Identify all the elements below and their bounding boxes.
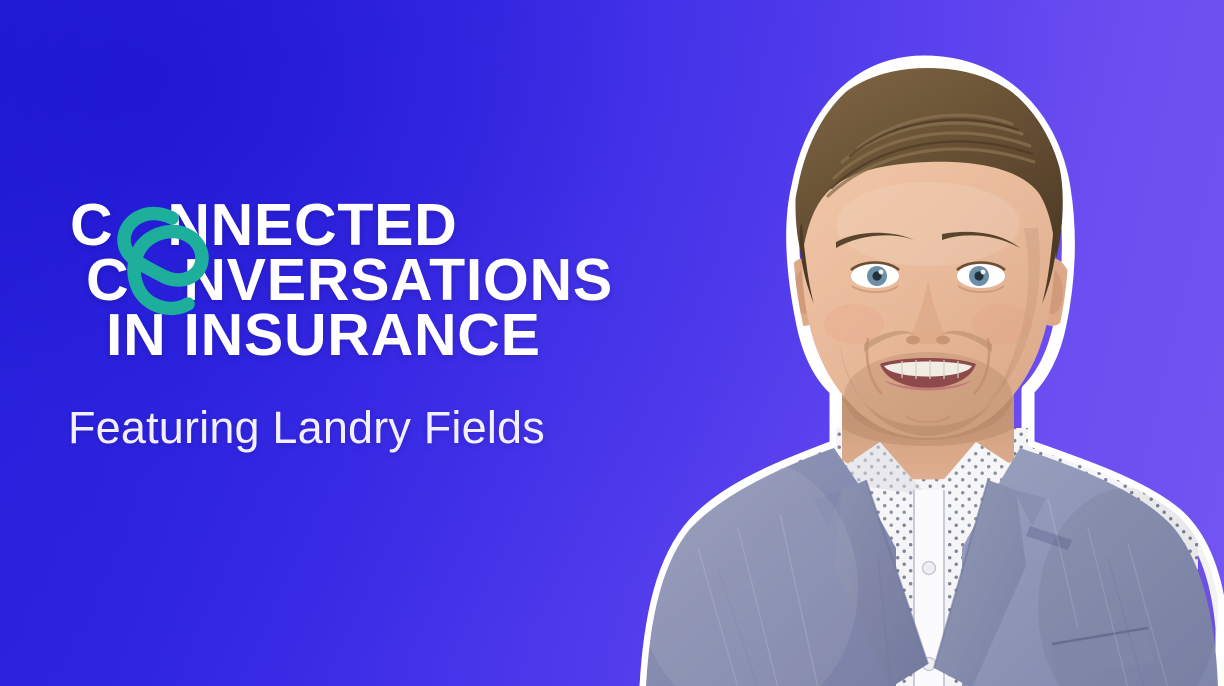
- subtitle-featuring: Featuring Landry Fields: [68, 402, 545, 454]
- video-thumbnail-banner: CNNECTED CNVERSATIONS IN INSURANCE Featu…: [0, 0, 1224, 686]
- title-line-connected: CNNECTED: [70, 196, 613, 254]
- title-block: CNNECTED CNVERSATIONS IN INSURANCE: [70, 196, 613, 364]
- title-line-in-insurance: IN INSURANCE: [106, 306, 613, 364]
- guest-portrait: [628, 28, 1224, 686]
- title-line-conversations: CNVERSATIONS: [86, 251, 613, 309]
